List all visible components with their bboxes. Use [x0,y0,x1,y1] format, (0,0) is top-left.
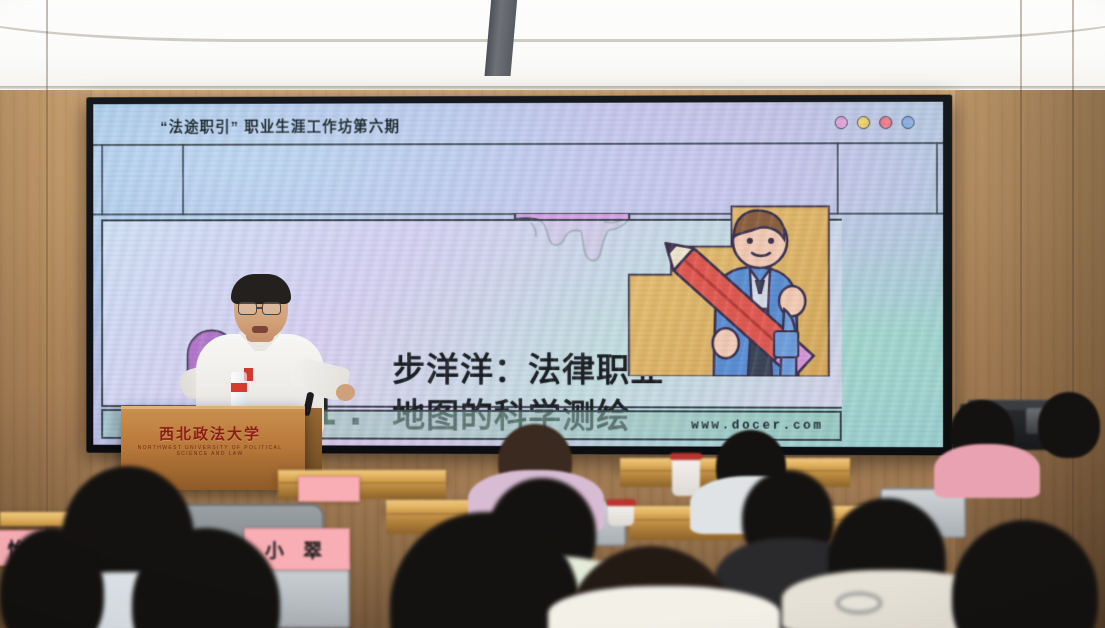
speaker-mouth [252,326,268,333]
glasses-icon [836,592,882,614]
audience-shoulders [934,444,1040,498]
slide-header-divider [93,142,943,146]
dot-red-icon [879,116,892,129]
cup-lid [606,499,636,506]
man-with-pencil-illustration [619,191,836,377]
slide-frame-line [101,144,103,215]
drink-cup [608,504,634,526]
bottle-label [231,383,247,392]
slide-frame-line [182,144,184,216]
dot-pink-icon [835,116,848,129]
speaker-right-hand [336,384,355,401]
slide-header-dots [835,116,915,129]
ceiling [0,0,1105,96]
dot-yellow-icon [857,116,870,129]
lecture-hall-scene: “法途职引” 职业生涯工作坊第六期 [0,0,1105,628]
audience-shoulders [548,586,780,628]
ceiling-wall-trim [0,86,1105,89]
dot-blue-icon [901,116,914,129]
podium-institution-name: 西北政法大学 [135,423,285,444]
glasses-bridge [257,307,263,309]
podium-institution-subtitle: NORTHWEST UNIVERSITY OF POLITICAL SCIENC… [135,445,285,457]
glasses-icon [262,302,281,315]
audience-head [1038,392,1100,458]
slide-frame-line [837,142,839,214]
cup-lid [670,453,702,460]
name-placard [298,476,360,502]
speaker-hair [231,274,291,304]
slide-header-title: “法途职引” 职业生涯工作坊第六期 [160,115,400,137]
slide-frame-line [936,142,938,215]
glasses-icon [238,302,257,315]
